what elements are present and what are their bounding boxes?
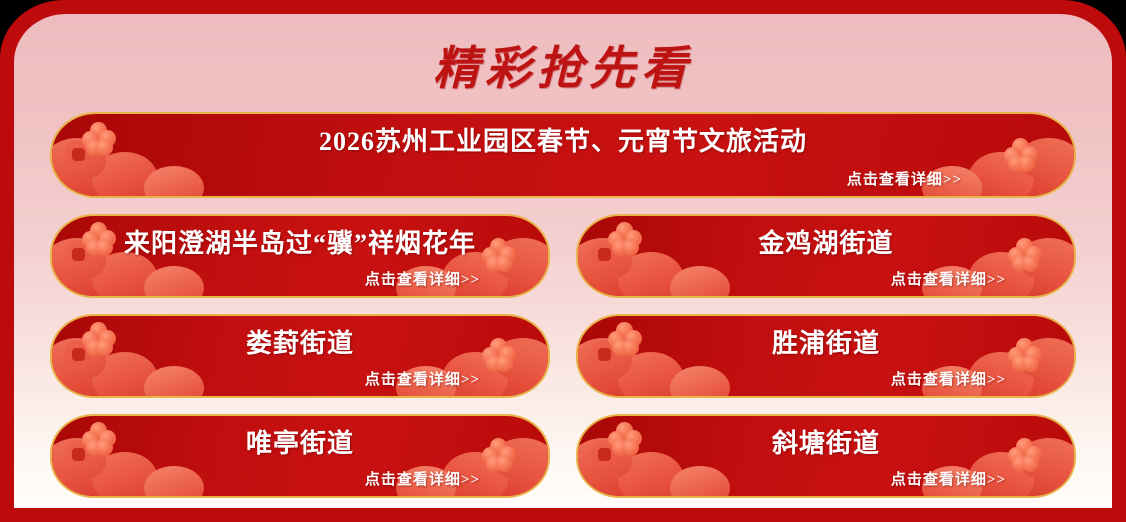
frame-bottom-strip — [0, 508, 1126, 522]
page-title: 精彩抢先看 — [14, 32, 1112, 98]
banner-item[interactable]: 2026苏州工业园区春节、元宵节文旅活动 点击查看详细>> — [50, 112, 1076, 198]
banner-title: 斜塘街道 — [578, 423, 1074, 460]
banner-cta-link[interactable]: 点击查看详细>> — [52, 468, 548, 489]
banner-title: 2026苏州工业园区春节、元宵节文旅活动 — [52, 121, 1074, 158]
banner-item[interactable]: 金鸡湖街道 点击查看详细>> — [576, 214, 1076, 298]
content-panel: 精彩抢先看 2026苏州工业园区春节、元宵节文旅活动 点击查看详细>> — [14, 14, 1112, 508]
banner-cta-link[interactable]: 点击查看详细>> — [578, 468, 1074, 489]
banner-item[interactable]: 唯亭街道 点击查看详细>> — [50, 414, 550, 498]
banner-title: 金鸡湖街道 — [578, 223, 1074, 260]
banner-cta-link[interactable]: 点击查看详细>> — [52, 268, 548, 289]
banner-title: 唯亭街道 — [52, 423, 548, 460]
banner-title: 娄葑街道 — [52, 323, 548, 360]
banner-item[interactable]: 来阳澄湖半岛过“骥”祥烟花年 点击查看详细>> — [50, 214, 550, 298]
banner-cta-link[interactable]: 点击查看详细>> — [52, 168, 1074, 189]
banner-title: 胜浦街道 — [578, 323, 1074, 360]
banner-cta-link[interactable]: 点击查看详细>> — [578, 268, 1074, 289]
banner-item[interactable]: 斜塘街道 点击查看详细>> — [576, 414, 1076, 498]
banner-title: 来阳澄湖半岛过“骥”祥烟花年 — [52, 223, 548, 260]
banner-item[interactable]: 胜浦街道 点击查看详细>> — [576, 314, 1076, 398]
banner-cta-link[interactable]: 点击查看详细>> — [52, 368, 548, 389]
banner-item[interactable]: 娄葑街道 点击查看详细>> — [50, 314, 550, 398]
banner-cta-link[interactable]: 点击查看详细>> — [578, 368, 1074, 389]
festival-plaque-frame: 精彩抢先看 2026苏州工业园区春节、元宵节文旅活动 点击查看详细>> — [0, 0, 1126, 522]
